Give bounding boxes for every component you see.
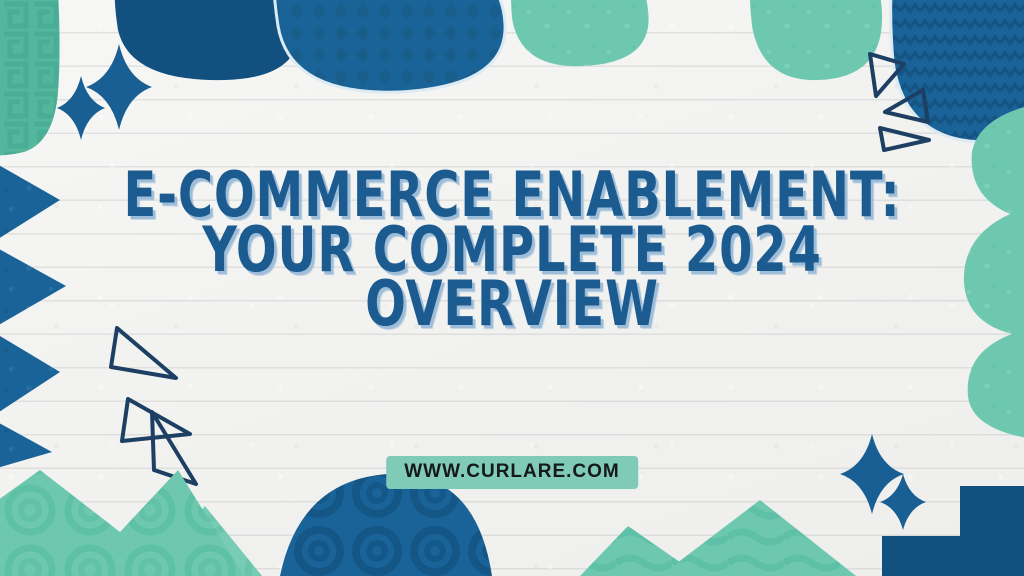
website-url-badge[interactable]: WWW.CURLARE.COM: [386, 456, 638, 489]
blob-mint-top-right: [750, 0, 882, 80]
motion-lines-bottom-left: [111, 328, 196, 484]
dome-blue-bottom-center: [280, 474, 492, 576]
blob-blue-top-center: [273, 0, 505, 92]
blob-mint-top-center: [511, 0, 649, 66]
mountains-mint-bottom-left: [0, 470, 262, 576]
blob-navy-top-left: [114, 0, 300, 80]
poster-canvas: E-COMMERCE ENABLEMENT: YOUR COMPLETE 202…: [0, 0, 1024, 576]
mountains-mint-bottom-right: [580, 500, 856, 576]
poster-title: E-COMMERCE ENABLEMENT: YOUR COMPLETE 202…: [0, 168, 1024, 332]
blob-mint-left-edge: [0, 0, 60, 156]
title-line-3: OVERVIEW: [72, 277, 953, 332]
